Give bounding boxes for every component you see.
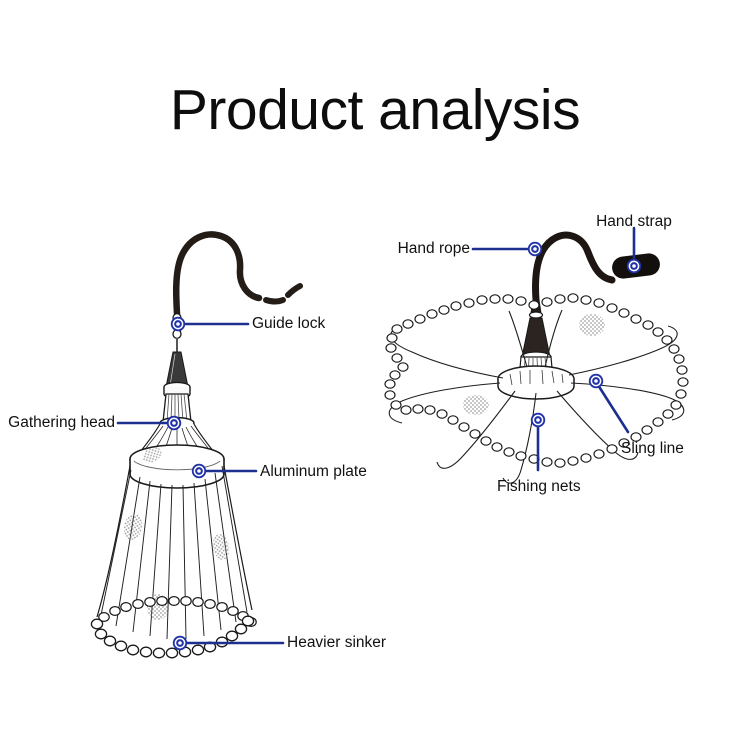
closed-net-rope-dash-1 — [266, 300, 283, 302]
closed-net-diagram — [91, 234, 300, 657]
closed-net-mesh-patch-1 — [121, 512, 144, 541]
closed-net-sinker-chain-front — [91, 616, 253, 658]
product-analysis-page: Product analysis — [0, 0, 750, 750]
open-net-pole-collar — [530, 312, 543, 318]
callout-label-guide-lock: Guide lock — [252, 316, 325, 332]
open-net-pole-cone — [522, 318, 550, 357]
callout-label-gathering-head: Gathering head — [0, 415, 115, 431]
leader-sling-line — [598, 385, 628, 432]
closed-net-skirt-right-edge — [224, 466, 252, 610]
marker-aluminum-plate[interactable] — [192, 464, 206, 478]
callout-label-heavier-sinker: Heavier sinker — [287, 635, 386, 651]
marker-hand-strap[interactable] — [627, 259, 641, 273]
open-net-mesh-patch-2 — [463, 395, 489, 415]
callout-label-hand-rope: Hand rope — [350, 241, 470, 257]
closed-net-skirt-left-edge — [97, 466, 130, 617]
marker-hand-rope[interactable] — [528, 242, 542, 256]
open-net-hand-rope — [536, 235, 612, 300]
marker-fishing-nets[interactable] — [531, 413, 545, 427]
open-net-mesh-patch-1 — [579, 314, 605, 336]
callout-label-sling-line: Sling line — [621, 441, 684, 457]
callout-label-hand-strap: Hand strap — [560, 214, 708, 230]
closed-net-aluminum-plate-band — [130, 459, 224, 488]
callout-label-aluminum-plate: Aluminum plate — [260, 464, 367, 480]
callout-label-fishing-nets: Fishing nets — [497, 479, 581, 495]
marker-guide-lock[interactable] — [171, 317, 185, 331]
callout-markers[interactable] — [167, 242, 641, 650]
marker-sling-line[interactable] — [589, 374, 603, 388]
closed-net-mesh-patch-2 — [211, 533, 231, 561]
closed-net-hand-rope — [176, 234, 259, 330]
marker-heavier-sinker[interactable] — [173, 636, 187, 650]
closed-net-rope-dash-2 — [288, 286, 300, 295]
marker-gathering-head[interactable] — [167, 416, 181, 430]
